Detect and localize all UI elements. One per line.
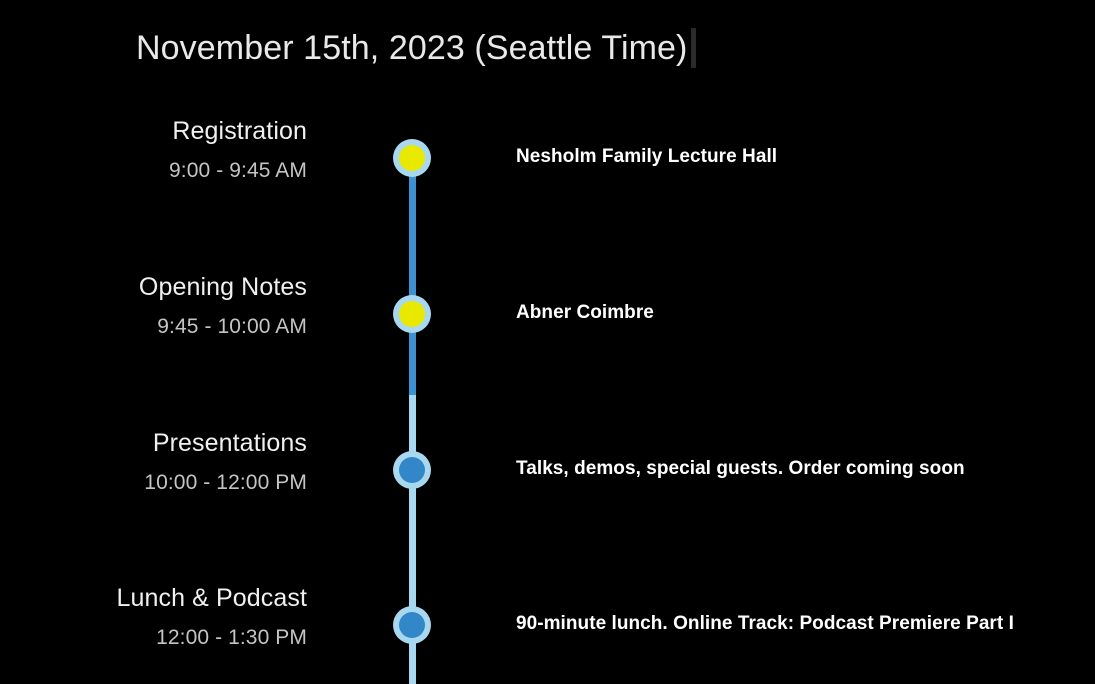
- timeline-event-time: 10:00 - 12:00 PM: [0, 469, 307, 497]
- timeline-row[interactable]: Presentations 10:00 - 12:00 PM Talks, de…: [0, 427, 1095, 583]
- timeline-row-labels: Registration 9:00 - 9:45 AM: [0, 115, 307, 185]
- timeline-event-description: Talks, demos, special guests. Order comi…: [516, 454, 965, 484]
- timeline-row[interactable]: Registration 9:00 - 9:45 AM Nesholm Fami…: [0, 115, 1095, 271]
- timeline-event-name: Registration: [0, 115, 307, 147]
- timeline-event-description: Nesholm Family Lecture Hall: [516, 142, 777, 172]
- timeline-marker-icon[interactable]: [393, 139, 431, 177]
- timeline-event-name: Lunch & Podcast: [0, 582, 307, 614]
- timeline-marker-dot: [399, 612, 425, 638]
- timeline-marker-icon[interactable]: [393, 451, 431, 489]
- timeline-marker-icon[interactable]: [393, 606, 431, 644]
- timeline-marker-dot: [399, 145, 425, 171]
- timeline-event-time: 9:00 - 9:45 AM: [0, 157, 307, 185]
- timeline-event-time: 12:00 - 1:30 PM: [0, 624, 307, 652]
- timeline-event-description: Abner Coimbre: [516, 298, 654, 328]
- text-caret: [691, 28, 696, 68]
- timeline-marker-dot: [399, 457, 425, 483]
- timeline-marker-dot: [399, 301, 425, 327]
- timeline-row-labels: Lunch & Podcast 12:00 - 1:30 PM: [0, 582, 307, 652]
- timeline-row[interactable]: Opening Notes 9:45 - 10:00 AM Abner Coim…: [0, 271, 1095, 427]
- timeline-marker-icon[interactable]: [393, 295, 431, 333]
- timeline-event-name: Presentations: [0, 427, 307, 459]
- timeline-event-time: 9:45 - 10:00 AM: [0, 313, 307, 341]
- timeline-event-name: Opening Notes: [0, 271, 307, 303]
- page-title: November 15th, 2023 (Seattle Time): [136, 25, 687, 71]
- schedule-timeline: Registration 9:00 - 9:45 AM Nesholm Fami…: [0, 115, 1095, 684]
- timeline-row-labels: Opening Notes 9:45 - 10:00 AM: [0, 271, 307, 341]
- timeline-event-description: 90-minute lunch. Online Track: Podcast P…: [516, 609, 1014, 639]
- page-title-row: November 15th, 2023 (Seattle Time): [136, 25, 696, 71]
- schedule-page: November 15th, 2023 (Seattle Time) Regis…: [0, 0, 1095, 684]
- timeline-row[interactable]: Lunch & Podcast 12:00 - 1:30 PM 90-minut…: [0, 582, 1095, 684]
- timeline-row-labels: Presentations 10:00 - 12:00 PM: [0, 427, 307, 497]
